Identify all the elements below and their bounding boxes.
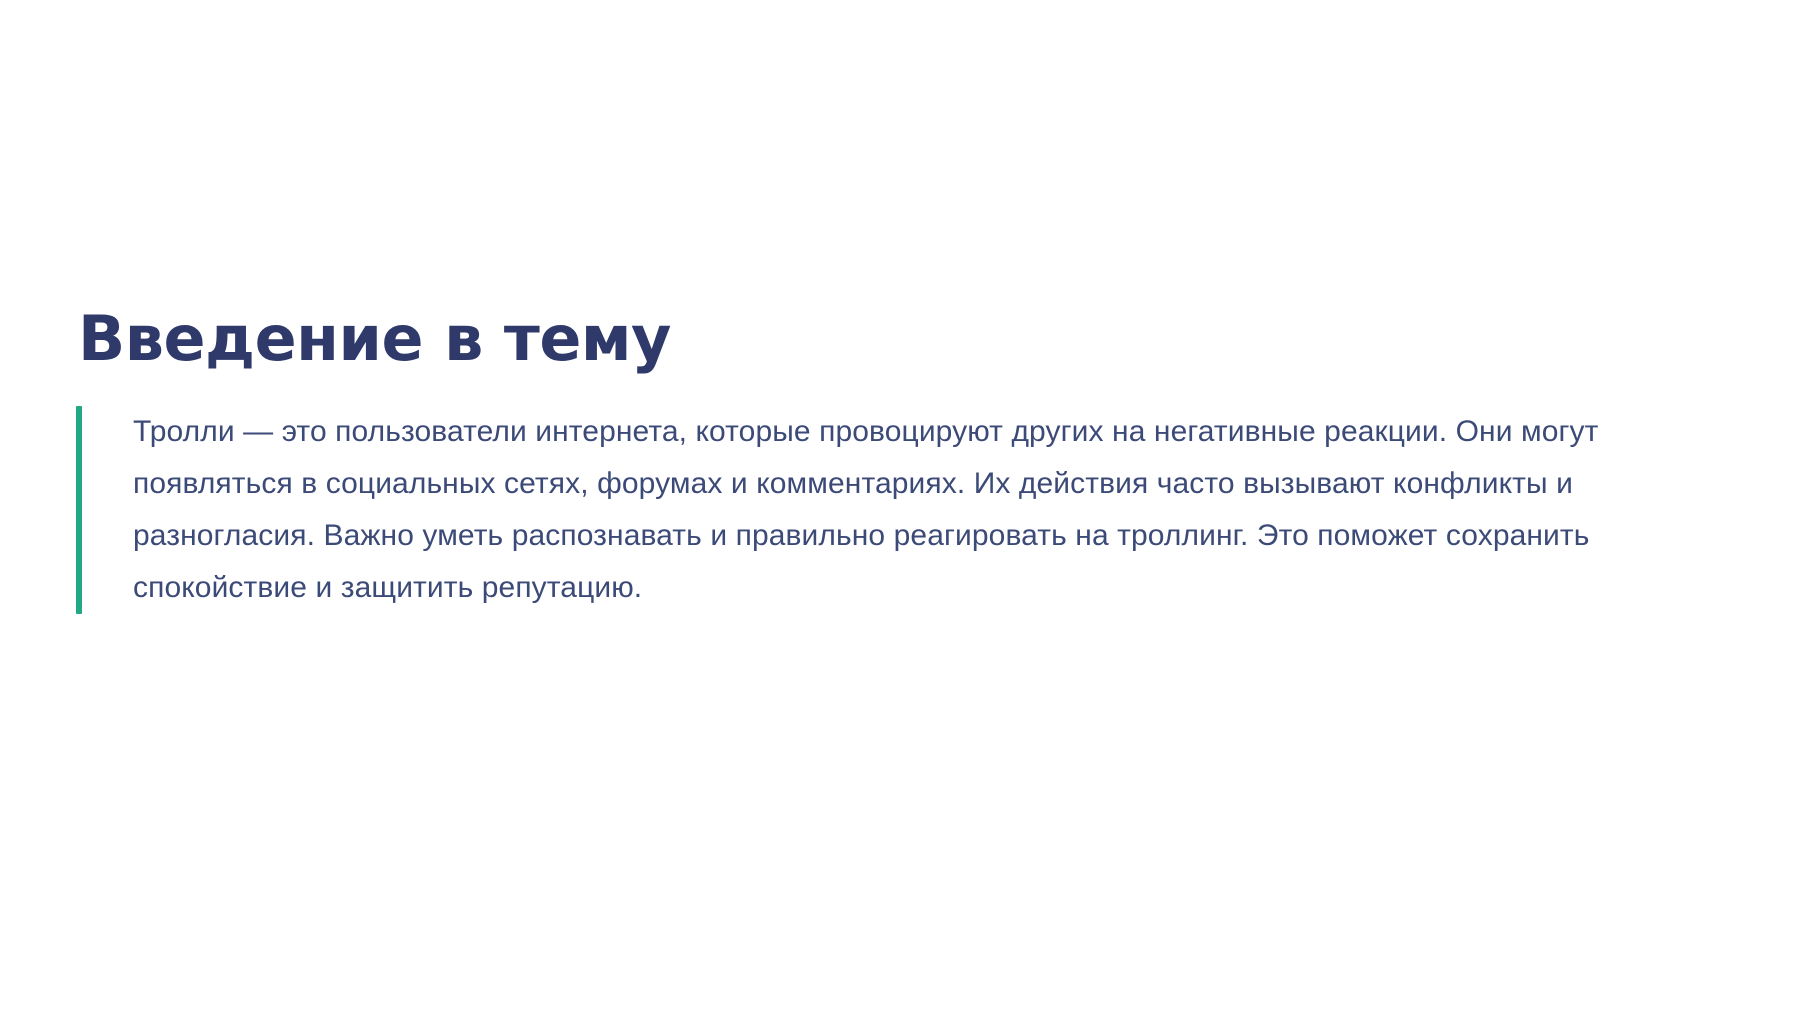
page-title: Введение в тему	[76, 300, 1736, 378]
accent-bar	[76, 406, 82, 614]
body-text-container: Тролли — это пользователи интернета, кот…	[76, 406, 1736, 614]
body-paragraph: Тролли — это пользователи интернета, кот…	[133, 406, 1701, 614]
slide-canvas: Введение в тему Тролли — это пользовател…	[0, 0, 1800, 1013]
content-block: Введение в тему Тролли — это пользовател…	[76, 300, 1736, 614]
